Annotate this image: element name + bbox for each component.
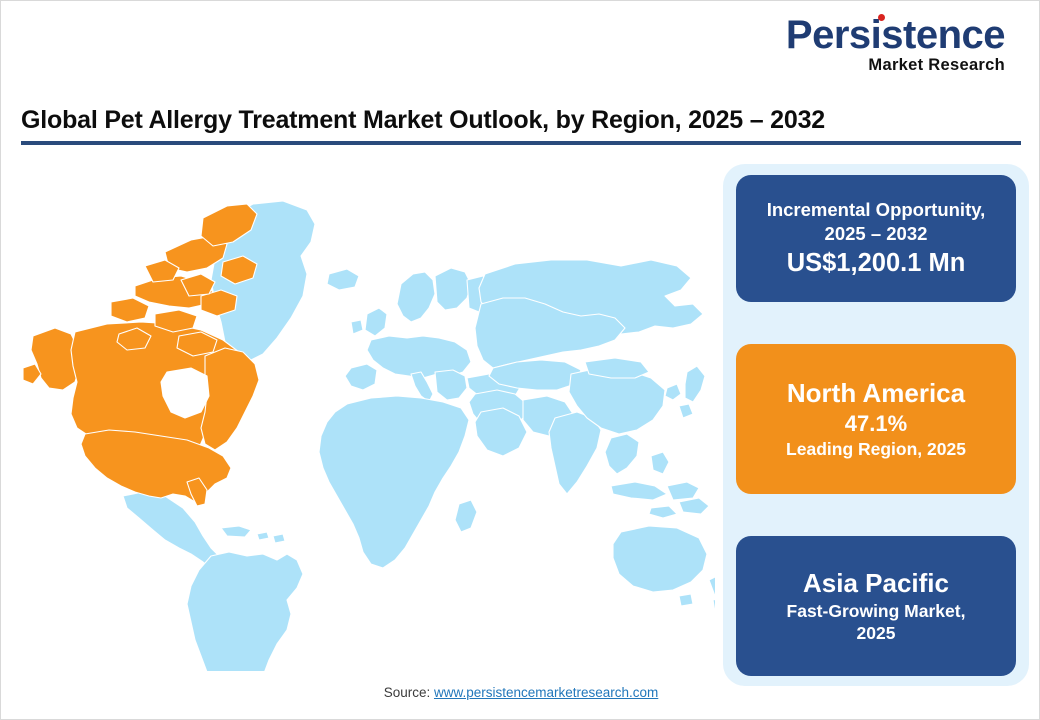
stat-card-leading-region[interactable]: North America 47.1% Leading Region, 2025 [736,344,1016,494]
incremental-label-line2: 2025 – 2032 [825,222,928,246]
source-line: Source: www.persistencemarketresearch.co… [1,685,1040,700]
stats-panel: Incremental Opportunity, 2025 – 2032 US$… [723,164,1029,686]
source-link[interactable]: www.persistencemarketresearch.com [434,685,658,700]
leading-region-name: North America [787,377,965,410]
incremental-label-line1: Incremental Opportunity, [767,198,986,222]
map-region-north-america-highlight [23,204,259,506]
fast-growing-caption-line1: Fast-Growing Market, [787,600,966,623]
leading-region-share: 47.1% [845,410,907,439]
fast-growing-caption-line2: 2025 [857,622,896,645]
page-title: Global Pet Allergy Treatment Market Outl… [21,106,1021,135]
brand-logo: Persistence Market Research [786,15,1005,74]
world-map [15,156,715,671]
source-label: Source: [384,685,434,700]
stat-card-fast-growing-market[interactable]: Asia Pacific Fast-Growing Market, 2025 [736,536,1016,676]
infographic-page: Persistence Market Research Global Pet A… [0,0,1040,720]
page-title-block: Global Pet Allergy Treatment Market Outl… [21,106,1021,145]
leading-region-caption: Leading Region, 2025 [786,438,966,461]
fast-growing-region-name: Asia Pacific [803,567,949,600]
brand-logo-primary: Persistence [786,15,1005,55]
stat-card-incremental-opportunity[interactable]: Incremental Opportunity, 2025 – 2032 US$… [736,175,1016,302]
brand-logo-secondary: Market Research [786,57,1005,74]
brand-logo-primary-text: Persistence [786,13,1005,57]
title-underline-rule [21,141,1021,145]
incremental-value: US$1,200.1 Mn [787,248,966,280]
logo-red-dot-icon [878,14,885,21]
